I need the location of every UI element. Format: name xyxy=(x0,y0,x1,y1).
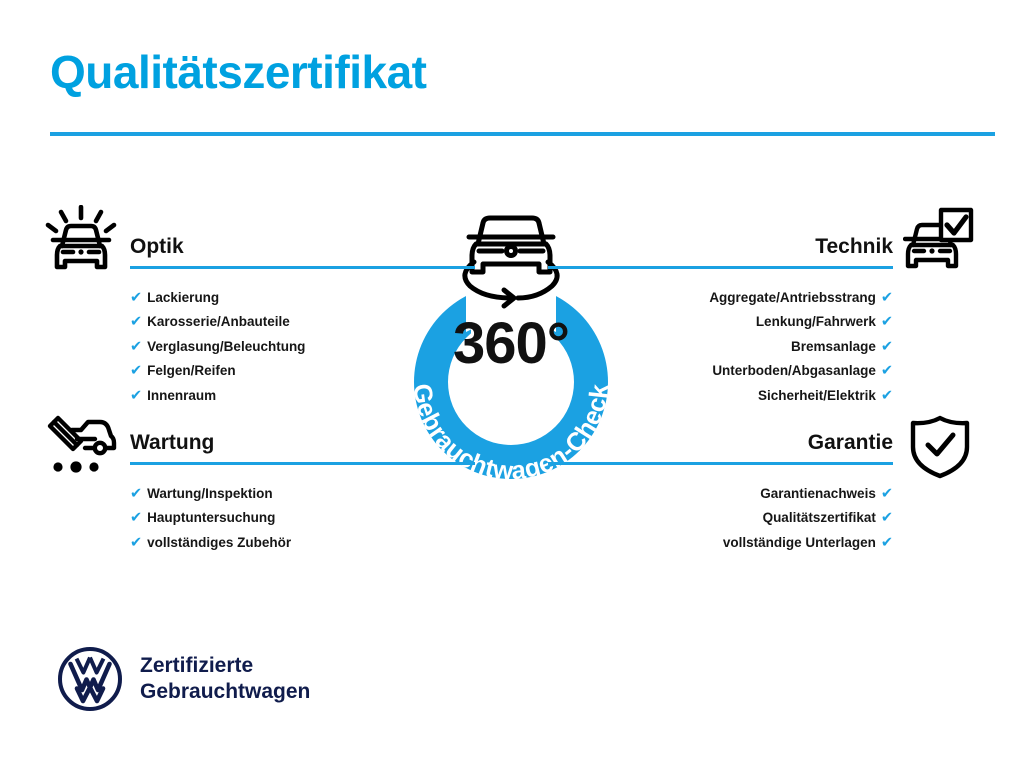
footer-brand-lockup: Zertifizierte Gebrauchtwagen xyxy=(56,645,310,713)
section-heading-technik: Technik xyxy=(548,236,893,257)
list-item: Bremsanlage✔ xyxy=(548,335,893,359)
header-divider xyxy=(50,132,995,136)
list-item: ✔vollständiges Zubehör xyxy=(130,531,475,555)
section-heading-garantie: Garantie xyxy=(548,432,893,453)
list-item: Unterboden/Abgasanlage✔ xyxy=(548,359,893,383)
list-item-label: Qualitätszertifikat xyxy=(763,510,876,525)
page-title: Qualitätszertifikat xyxy=(50,48,427,96)
list-item-label: vollständige Unterlagen xyxy=(723,535,876,550)
car-rotation-icon xyxy=(465,218,557,306)
footer-brand-text: Zertifizierte Gebrauchtwagen xyxy=(140,653,310,705)
check-icon: ✔ xyxy=(881,311,893,334)
section-heading-wartung: Wartung xyxy=(130,432,475,453)
list-item-label: Sicherheit/Elektrik xyxy=(758,388,876,403)
check-icon: ✔ xyxy=(130,385,142,408)
list-item: Lenkung/Fahrwerk✔ xyxy=(548,310,893,334)
list-item-label: Innenraum xyxy=(147,388,216,403)
footer-line-1: Zertifizierte xyxy=(140,653,310,679)
check-icon: ✔ xyxy=(130,311,142,334)
check-icon: ✔ xyxy=(130,360,142,383)
list-item-label: Lackierung xyxy=(147,290,219,305)
list-item: ✔Lackierung xyxy=(130,286,475,310)
list-item: vollständige Unterlagen✔ xyxy=(548,531,893,555)
section-rule-wartung xyxy=(130,462,475,465)
section-rule-technik xyxy=(548,266,893,269)
list-item: ✔Hauptuntersuchung xyxy=(130,506,475,530)
list-item: Qualitätszertifikat✔ xyxy=(548,506,893,530)
list-item-label: Felgen/Reifen xyxy=(147,363,236,378)
check-list-optik: ✔Lackierung ✔Karosserie/Anbauteile ✔Verg… xyxy=(130,286,475,408)
list-item: ✔Wartung/Inspektion xyxy=(130,482,475,506)
list-item: Sicherheit/Elektrik✔ xyxy=(548,384,893,408)
check-icon: ✔ xyxy=(881,483,893,506)
check-icon: ✔ xyxy=(881,385,893,408)
list-item: ✔Innenraum xyxy=(130,384,475,408)
check-icon: ✔ xyxy=(881,532,893,555)
check-icon: ✔ xyxy=(130,507,142,530)
check-list-technik: Aggregate/Antriebsstrang✔ Lenkung/Fahrwe… xyxy=(548,286,893,408)
list-item-label: vollständiges Zubehör xyxy=(147,535,291,550)
list-item-label: Hauptuntersuchung xyxy=(147,510,275,525)
list-item-label: Wartung/Inspektion xyxy=(147,486,273,501)
check-icon: ✔ xyxy=(130,336,142,359)
list-item-label: Garantienachweis xyxy=(760,486,876,501)
list-item-label: Unterboden/Abgasanlage xyxy=(712,363,876,378)
list-item-label: Bremsanlage xyxy=(791,339,876,354)
check-icon: ✔ xyxy=(881,336,893,359)
check-icon: ✔ xyxy=(881,360,893,383)
footer-line-2: Gebrauchtwagen xyxy=(140,679,310,705)
check-list-wartung: ✔Wartung/Inspektion ✔Hauptuntersuchung ✔… xyxy=(130,482,475,555)
check-icon: ✔ xyxy=(130,483,142,506)
car-shine-icon xyxy=(45,205,117,280)
list-item: ✔Verglasung/Beleuchtung xyxy=(130,335,475,359)
section-garantie: Garantie Garantienachweis✔ Qualitätszert… xyxy=(548,432,893,555)
section-optik: Optik ✔Lackierung ✔Karosserie/Anbauteile… xyxy=(130,236,475,408)
check-icon: ✔ xyxy=(881,287,893,310)
list-item: ✔Felgen/Reifen xyxy=(130,359,475,383)
check-icon: ✔ xyxy=(130,287,142,310)
list-item: Aggregate/Antriebsstrang✔ xyxy=(548,286,893,310)
section-rule-garantie xyxy=(548,462,893,465)
list-item-label: Verglasung/Beleuchtung xyxy=(147,339,305,354)
section-wartung: Wartung ✔Wartung/Inspektion ✔Hauptunters… xyxy=(130,432,475,555)
section-rule-optik xyxy=(130,266,475,269)
car-checkbox-icon xyxy=(903,205,975,280)
certificate-page: Qualitätszertifikat xyxy=(0,0,1024,768)
check-icon: ✔ xyxy=(130,532,142,555)
list-item-label: Lenkung/Fahrwerk xyxy=(756,314,876,329)
check-list-garantie: Garantienachweis✔ Qualitätszertifikat✔ v… xyxy=(548,482,893,555)
shield-check-icon xyxy=(909,414,971,485)
section-technik: Technik Aggregate/Antriebsstrang✔ Lenkun… xyxy=(548,236,893,408)
list-item-label: Karosserie/Anbauteile xyxy=(147,314,290,329)
volkswagen-logo xyxy=(56,645,124,713)
list-item: ✔Karosserie/Anbauteile xyxy=(130,310,475,334)
check-icon: ✔ xyxy=(881,507,893,530)
car-service-pencil-icon xyxy=(45,414,117,481)
list-item: Garantienachweis✔ xyxy=(548,482,893,506)
section-heading-optik: Optik xyxy=(130,236,475,257)
list-item-label: Aggregate/Antriebsstrang xyxy=(709,290,876,305)
